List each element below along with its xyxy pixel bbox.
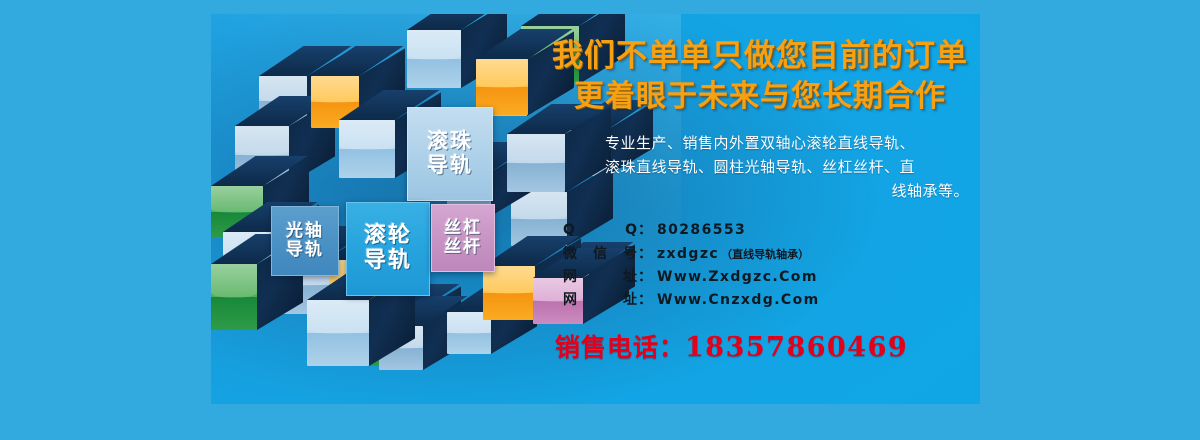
contact-label: 微信号 <box>563 243 637 266</box>
product-box-optical-shaft-guide[interactable]: 光轴 导轨 <box>271 206 339 276</box>
contact-colon: ： <box>637 243 657 266</box>
contact-label: 网 址 <box>563 289 637 312</box>
contact-label: Q Q <box>563 219 637 242</box>
sales-phone-label: 销售电话： <box>555 333 685 362</box>
subcopy-line-2: 滚珠直线导轨、圆柱光轴导轨、丝杠丝杆、直 <box>551 155 969 179</box>
contact-note-wechat: （直线导轨轴承） <box>719 246 809 264</box>
sales-phone-number[interactable]: 18357860469 <box>685 332 908 363</box>
product-box-line: 丝杠 <box>444 219 482 238</box>
contact-colon: ： <box>637 219 657 242</box>
product-box-line: 滚珠 <box>427 130 473 154</box>
product-box-line: 导轨 <box>286 241 324 260</box>
subcopy-line-1: 专业生产、销售内外置双轴心滚轮直线导轨、 <box>551 131 969 155</box>
product-box-line: 滚轮 <box>364 224 412 249</box>
cube-decoration <box>483 266 535 320</box>
headline-line-2: 更着眼于未来与您长期合作 <box>551 77 969 117</box>
promo-banner: 滚珠 导轨 光轴 导轨 滚轮 导轨 丝杠 丝杆 我们不单单只做您目前的订单 更着… <box>211 14 980 404</box>
contact-label: 网 址 <box>563 266 637 289</box>
contact-colon: ： <box>637 266 657 289</box>
product-box-roller-guide[interactable]: 滚轮 导轨 <box>346 202 430 296</box>
contact-value-qq[interactable]: 80286553 <box>657 219 746 242</box>
contact-value-wechat[interactable]: zxdgzc <box>657 243 719 266</box>
cube-decoration <box>407 30 461 88</box>
product-box-line: 导轨 <box>427 154 473 178</box>
contact-row-wechat: 微信号 ： zxdgzc （直线导轨轴承） <box>563 243 969 266</box>
banner-text-column: 我们不单单只做您目前的订单 更着眼于未来与您长期合作 专业生产、销售内外置双轴心… <box>551 36 969 396</box>
product-box-line: 导轨 <box>364 249 412 274</box>
product-box-lead-screw[interactable]: 丝杠 丝杆 <box>431 204 495 272</box>
contact-row-website-2: 网 址 ： Www.Cnzxdg.Com <box>563 289 969 312</box>
cube-decoration <box>339 120 395 178</box>
subcopy-line-3: 线轴承等。 <box>551 179 969 203</box>
cube-decoration <box>307 300 369 366</box>
headline: 我们不单单只做您目前的订单 更着眼于未来与您长期合作 <box>551 36 969 117</box>
subcopy: 专业生产、销售内外置双轴心滚轮直线导轨、 滚珠直线导轨、圆柱光轴导轨、丝杠丝杆、… <box>551 131 969 204</box>
contact-value-website-1[interactable]: Www.Zxdgzc.Com <box>657 266 818 289</box>
contact-row-website-1: 网 址 ： Www.Zxdgzc.Com <box>563 266 969 289</box>
product-box-line: 光轴 <box>286 222 324 241</box>
cube-decoration <box>211 264 257 330</box>
contact-colon: ： <box>637 289 657 312</box>
contact-value-website-2[interactable]: Www.Cnzxdg.Com <box>657 289 820 312</box>
banner-page: 滚珠 导轨 光轴 导轨 滚轮 导轨 丝杠 丝杆 我们不单单只做您目前的订单 更着… <box>0 0 1200 440</box>
product-box-ball-guide[interactable]: 滚珠 导轨 <box>407 107 493 201</box>
headline-line-1: 我们不单单只做您目前的订单 <box>551 36 969 77</box>
contact-block: Q Q ： 80286553 微信号 ： zxdgzc （直线导轨轴承） 网 址… <box>551 219 969 312</box>
contact-row-qq: Q Q ： 80286553 <box>563 219 969 242</box>
sales-phone[interactable]: 销售电话：18357860469 <box>551 328 969 364</box>
product-box-line: 丝杆 <box>444 238 482 257</box>
